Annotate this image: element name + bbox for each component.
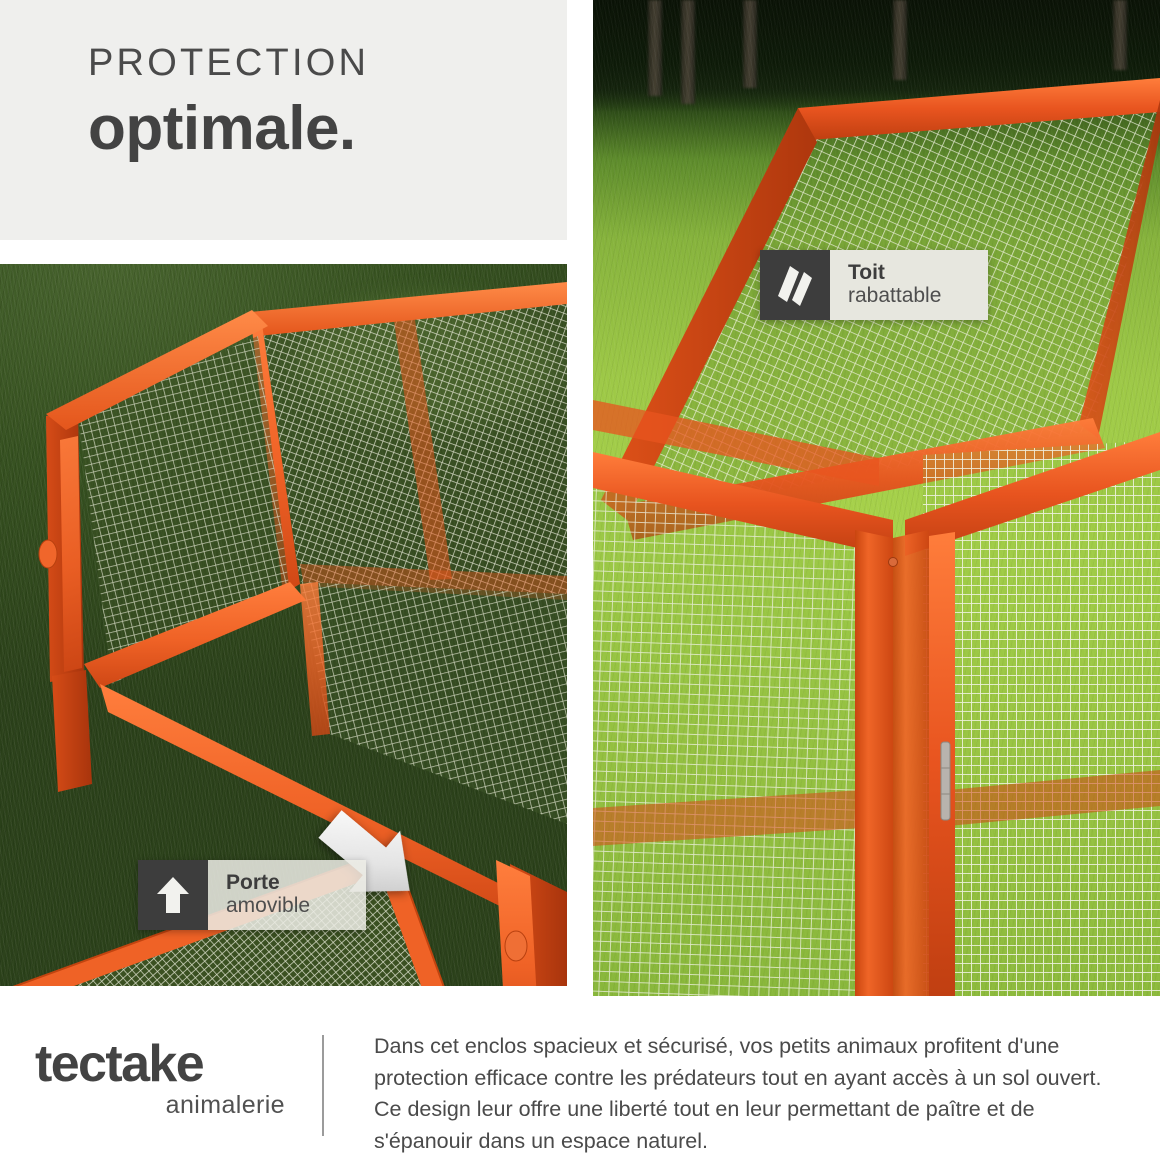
headline-wrap: PROTECTION optimale. — [88, 44, 369, 161]
badge-label-group: Porte amovible — [208, 860, 366, 930]
headline-eyebrow: PROTECTION — [88, 44, 369, 82]
badge-subtitle: amovible — [226, 894, 344, 919]
logo-tagline: animalerie — [35, 1091, 285, 1120]
hinge-diagonal-bars-icon — [760, 250, 830, 320]
tectake-logo: tectake animalerie — [35, 1040, 285, 1120]
headline-panel: PROTECTION optimale. — [0, 0, 567, 240]
page-title: optimale. — [88, 96, 369, 161]
badge-title: Porte — [226, 871, 344, 895]
footer-divider — [322, 1035, 324, 1136]
photo-toit-rabattable: Toit rabattable — [593, 0, 1160, 996]
badge-label-group: Toit rabattable — [830, 250, 988, 320]
footer-description: Dans cet enclos spacieux et sécurisé, vo… — [374, 1031, 1119, 1157]
product-feature-banner: PROTECTION optimale. — [0, 0, 1160, 1160]
photo-enclos-porte-amovible: Porte amovible — [0, 264, 567, 986]
logo-wordmark: tectake — [35, 1040, 285, 1089]
hinge-hardware — [941, 742, 950, 820]
badge-title: Toit — [848, 261, 966, 285]
toit-illustration — [593, 0, 1160, 996]
badge-subtitle: rabattable — [848, 284, 966, 309]
badge-porte-amovible[interactable]: Porte amovible — [138, 860, 366, 930]
arrow-up-icon — [138, 860, 208, 930]
badge-toit-rabattable[interactable]: Toit rabattable — [760, 250, 988, 320]
